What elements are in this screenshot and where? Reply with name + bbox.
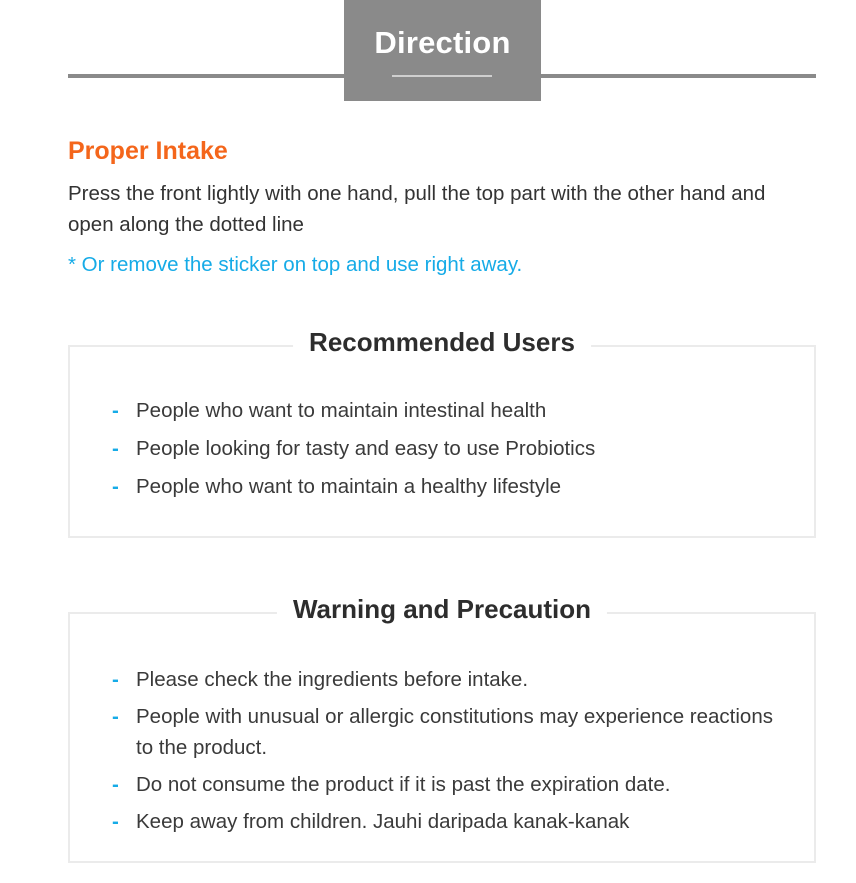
proper-intake-description: Press the front lightly with one hand, p… <box>68 178 810 240</box>
list-item-label: Do not consume the product if it is past… <box>136 773 670 796</box>
list-item: - People looking for tasty and easy to u… <box>112 433 784 464</box>
dash-bullet-icon: - <box>112 471 119 502</box>
section-header: Direction <box>0 0 856 101</box>
warning-precaution-list: - Please check the ingredients before in… <box>112 664 790 837</box>
dash-bullet-icon: - <box>112 395 119 426</box>
recommended-users-panel: Recommended Users - People who want to m… <box>68 345 816 538</box>
proper-intake-block: Proper Intake Press the front lightly wi… <box>68 136 828 280</box>
dash-bullet-icon: - <box>112 701 119 732</box>
header-tab: Direction <box>344 0 541 101</box>
direction-section: Direction Proper Intake Press the front … <box>0 0 856 883</box>
list-item-label: People looking for tasty and easy to use… <box>136 437 595 460</box>
warning-precaution-legend: Warning and Precaution <box>277 594 607 625</box>
list-item-label: People who want to maintain a healthy li… <box>136 475 561 498</box>
proper-intake-note: * Or remove the sticker on top and use r… <box>68 249 828 280</box>
recommended-users-list: - People who want to maintain intestinal… <box>112 395 784 502</box>
list-item: - Do not consume the product if it is pa… <box>112 769 790 800</box>
recommended-users-legend: Recommended Users <box>293 327 591 358</box>
list-item: - People with unusual or allergic consti… <box>112 701 790 763</box>
dash-bullet-icon: - <box>112 664 119 695</box>
list-item-label: Keep away from children. Jauhi daripada … <box>136 810 629 833</box>
list-item-label: People who want to maintain intestinal h… <box>136 399 546 422</box>
page-title: Direction <box>374 27 510 58</box>
list-item: - Keep away from children. Jauhi daripad… <box>112 806 790 837</box>
dash-bullet-icon: - <box>112 769 119 800</box>
list-item-label: People with unusual or allergic constitu… <box>136 705 773 759</box>
list-item: - Please check the ingredients before in… <box>112 664 790 695</box>
dash-bullet-icon: - <box>112 806 119 837</box>
dash-bullet-icon: - <box>112 433 119 464</box>
list-item: - People who want to maintain a healthy … <box>112 471 784 502</box>
list-item: - People who want to maintain intestinal… <box>112 395 784 426</box>
proper-intake-heading: Proper Intake <box>68 136 828 166</box>
list-item-label: Please check the ingredients before inta… <box>136 668 528 691</box>
header-tab-underline <box>392 75 492 77</box>
warning-precaution-panel: Warning and Precaution - Please check th… <box>68 612 816 863</box>
